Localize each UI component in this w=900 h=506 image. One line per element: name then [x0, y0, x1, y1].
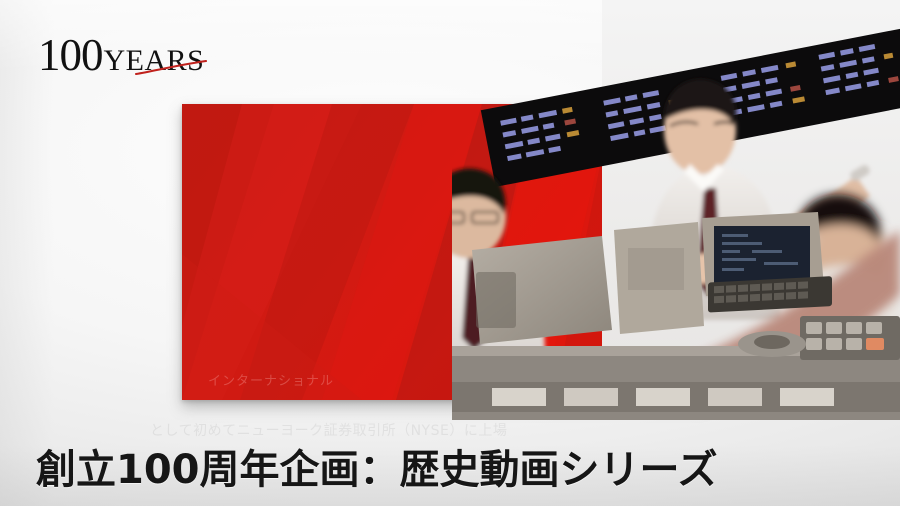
- headline-line-3: バブル崩壊: [103, 233, 607, 279]
- headline-line-2: 世界を動かすジャパンマネーと: [103, 188, 607, 234]
- brand-logo: 100 YEARS: [38, 33, 204, 79]
- slide-canvas: 100 YEARS: [0, 0, 900, 506]
- episode-year-range: 1980-1998: [104, 330, 236, 355]
- episode-number: EPISODE-05: [104, 305, 236, 330]
- series-caption: 創立100周年企画：歴史動画シリーズ: [36, 437, 718, 495]
- episode-headline: 絶頂からの転落 世界を動かすジャパンマネーと バブル崩壊: [103, 142, 607, 279]
- logo-number: 100: [38, 33, 103, 78]
- logo-word: YEARS: [104, 46, 205, 76]
- episode-meta: EPISODE-05 1980-1998: [104, 305, 236, 355]
- headline-line-1: 絶頂からの転落: [103, 142, 607, 188]
